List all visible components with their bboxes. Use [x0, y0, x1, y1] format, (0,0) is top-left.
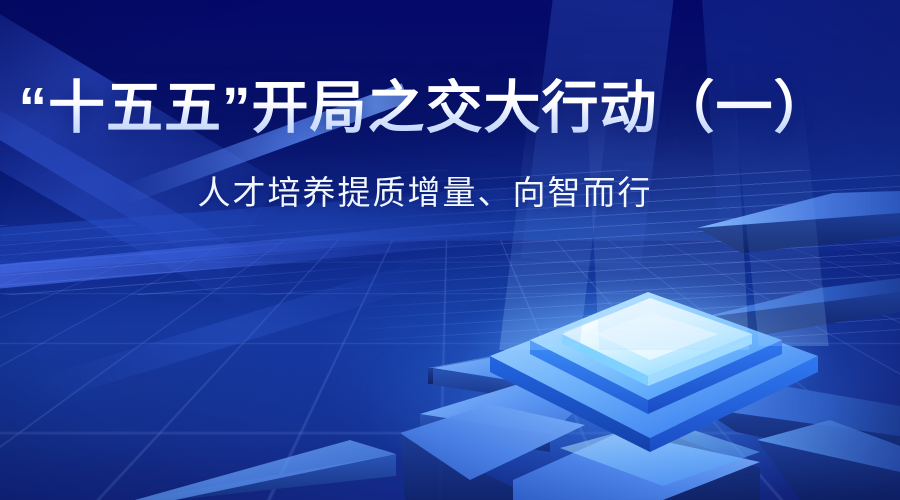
banner-subtitle: 人才培养提质增量、向智而行 [0, 166, 850, 214]
background-vignette [0, 0, 900, 500]
banner-root: “十五五”开局之交大行动（一） 人才培养提质增量、向智而行 [0, 0, 900, 500]
banner-title: “十五五”开局之交大行动（一） [0, 78, 850, 140]
banner-text-block: “十五五”开局之交大行动（一） 人才培养提质增量、向智而行 [0, 78, 850, 214]
